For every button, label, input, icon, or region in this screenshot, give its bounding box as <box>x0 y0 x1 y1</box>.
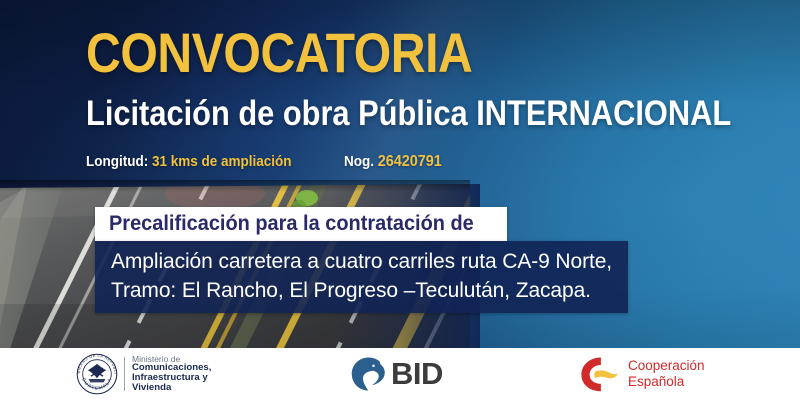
project-description-strip: Ampliación carretera a cuatro carriles r… <box>95 241 628 313</box>
cooperacion-espanola-text: Cooperación Española <box>628 358 705 390</box>
cooperacion-c-icon <box>578 356 620 392</box>
cooperacion-line-2: Española <box>628 374 705 390</box>
bid-logo: BID <box>350 348 443 400</box>
length-label: Longitud: <box>86 153 148 170</box>
description-line-2: Tramo: El Rancho, El Progreso –Teculután… <box>111 276 612 305</box>
svg-text:GUATEMALA: GUATEMALA <box>81 377 113 391</box>
ministry-line-4: Vivienda <box>132 383 211 393</box>
nog-value: 26420791 <box>378 153 442 170</box>
ministry-logo: GOBIERNO DE LA REPÚBLICA GUATEMALA Minis… <box>76 348 211 400</box>
bid-swirl-icon <box>350 356 388 392</box>
nog-info: Nog. 26420791 <box>344 152 442 172</box>
meta-row: Longitud: 31 kms de ampliación Nog. 2642… <box>86 152 706 174</box>
length-value: 31 kms de ampliación <box>152 153 292 170</box>
headline-text: Precalificación para la contratación de <box>109 211 474 236</box>
bid-wordmark: BID <box>391 358 443 390</box>
cooperacion-line-1: Cooperación <box>628 358 705 374</box>
nog-label: Nog. <box>344 153 374 170</box>
ministry-logo-divider <box>124 357 125 391</box>
length-info: Longitud: 31 kms de ampliación <box>86 152 292 172</box>
cooperacion-espanola-logo: Cooperación Española <box>578 348 705 400</box>
photo-top-shadow <box>0 180 470 192</box>
poster-banner: CONVOCATORIA Licitación de obra Pública … <box>0 0 800 400</box>
page-subtitle: Licitación de obra Pública INTERNACIONAL <box>86 94 731 134</box>
guatemala-government-seal-icon: GOBIERNO DE LA REPÚBLICA GUATEMALA <box>76 353 118 395</box>
footer-logo-bar: GOBIERNO DE LA REPÚBLICA GUATEMALA Minis… <box>0 348 800 400</box>
headline-strip: Precalificación para la contratación de <box>95 207 507 241</box>
description-line-1: Ampliación carretera a cuatro carriles r… <box>111 247 612 276</box>
ministry-logo-text: Ministerio de Comunicaciones, Infraestru… <box>132 355 211 394</box>
page-title: CONVOCATORIA <box>86 24 472 82</box>
